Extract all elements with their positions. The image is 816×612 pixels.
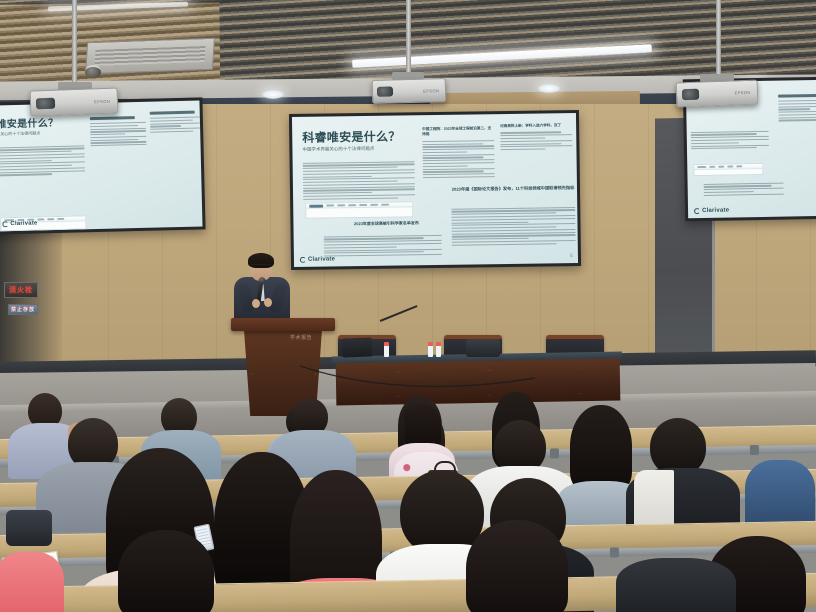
slide-title: 科睿唯安是什么？: [302, 127, 401, 145]
presenter-hand-right: [264, 298, 272, 307]
projector-brand: EPSON: [423, 88, 439, 93]
downlight: [262, 90, 284, 99]
left-slide-title: 科睿唯安是什么？: [0, 114, 58, 131]
podium-top: [231, 318, 335, 331]
lecture-hall-photo: 消火栓 禁止存放 科睿唯安是什么？ 中国学术界最关心的十个法律问题点: [0, 0, 816, 612]
left-slide-column-3: [150, 110, 201, 134]
notice-plate: 禁止存放: [8, 304, 38, 315]
slide-subsection-heading: 2023年度全球高被引科学家名单发布: [331, 220, 441, 228]
right-slide-column-2: [778, 94, 816, 123]
left-slide: 科睿唯安是什么？ 中国学术界最关心的十个法律问题点: [0, 101, 203, 232]
projector-lens-icon: [682, 89, 700, 100]
slide-column-3: 河南高校上新：学科入选六学科，双了: [500, 123, 572, 152]
clarivate-logo: Clarivate: [2, 220, 37, 227]
slide-column-5: [451, 205, 576, 247]
left-projector: EPSON: [30, 87, 119, 116]
presenter-glasses: [251, 264, 271, 268]
projector-pole: [716, 0, 721, 76]
left-screen-surface: 科睿唯安是什么？ 中国学术界最关心的十个法律问题点: [0, 101, 203, 232]
audience-hair: [118, 530, 214, 612]
water-bottle: [384, 342, 389, 357]
audience-shoulders: [745, 460, 815, 530]
presenter: [232, 255, 294, 325]
audience-shoulders: [616, 558, 736, 612]
projector-pole: [72, 0, 77, 84]
projector-pole: [406, 0, 411, 74]
slide-column-4: [324, 233, 442, 258]
center-projector: EPSON: [372, 78, 447, 104]
center-slide: 科睿唯安是什么？ 中国学术界最关心的十个法律问题点 中国工程院：2023年全球工…: [292, 113, 578, 267]
clarivate-glyph-icon: [2, 221, 8, 227]
clarivate-logo: Clarivate: [300, 256, 335, 262]
center-screen-surface: 科睿唯安是什么？ 中国学术界最关心的十个法律问题点 中国工程院：2023年全球工…: [292, 113, 578, 267]
audience-hair: [570, 405, 632, 491]
slide-column-2-heading: 中国工程院：2023年全球工程前沿第二、支持链: [422, 126, 494, 138]
projector-lens-icon: [36, 97, 55, 109]
slide-column-1: [303, 159, 416, 201]
projector-brand: EPSON: [735, 90, 751, 96]
left-slide-subtitle: 中国学术界最关心的十个法律问题点: [0, 130, 40, 138]
presenter-hand-left: [252, 299, 260, 308]
slide-section-heading: 2023年度《国际论文报告》发布，11个科技领域中国取得领先指标: [451, 185, 575, 193]
left-slide-column-1: [0, 143, 85, 177]
clarivate-glyph-icon: [300, 257, 306, 263]
slide-subtitle: 中国学术界最关心的十个法律问题点: [302, 146, 374, 153]
backpack: [6, 510, 52, 546]
screenshot-nav-bar: [306, 202, 412, 208]
laptop: [342, 337, 373, 357]
downlight: [538, 84, 560, 93]
slide-column-2: 中国工程院：2023年全球工程前沿第二、支持链: [422, 126, 495, 180]
water-bottle: [428, 342, 433, 357]
clarivate-logo: Clarivate: [694, 208, 729, 215]
right-projector: EPSON: [676, 80, 759, 108]
projector-brand: EPSON: [94, 98, 110, 104]
right-slide-column-3: [704, 181, 784, 198]
projector-lens-icon: [377, 87, 393, 98]
left-slide-column-2: [90, 116, 147, 148]
audience-shoulders: [0, 552, 64, 612]
right-slide-column-1: [691, 129, 769, 151]
security-camera-icon: [85, 65, 101, 78]
fire-exit-sign-label: 消火栓: [9, 285, 33, 295]
left-projection-screen[interactable]: 科睿唯安是什么？ 中国学术界最关心的十个法律问题点: [0, 97, 206, 234]
notice-plate-label: 禁止存放: [11, 306, 35, 313]
center-projection-screen[interactable]: 科睿唯安是什么？ 中国学术界最关心的十个法律问题点 中国工程院：2023年全球工…: [289, 110, 581, 270]
fire-exit-sign: 消火栓: [4, 282, 38, 298]
clarivate-logo-text: Clarivate: [10, 220, 37, 227]
bag-on-table: [466, 339, 500, 357]
air-conditioning-vent: [85, 38, 215, 75]
slide-column-3-heading: 河南高校上新：学科入选六学科，双了: [500, 123, 572, 129]
slide-page-number: 5: [570, 253, 573, 259]
clarivate-glyph-icon: [694, 208, 700, 214]
podium-logo-text: 学术报告: [290, 334, 312, 341]
slide-screenshot: [305, 201, 413, 219]
clarivate-logo-text: Clarivate: [702, 208, 729, 214]
audience-hair: [466, 520, 568, 612]
clarivate-logo-text: Clarivate: [308, 256, 335, 262]
water-bottle: [436, 342, 441, 357]
right-slide-screenshot: [693, 163, 763, 176]
